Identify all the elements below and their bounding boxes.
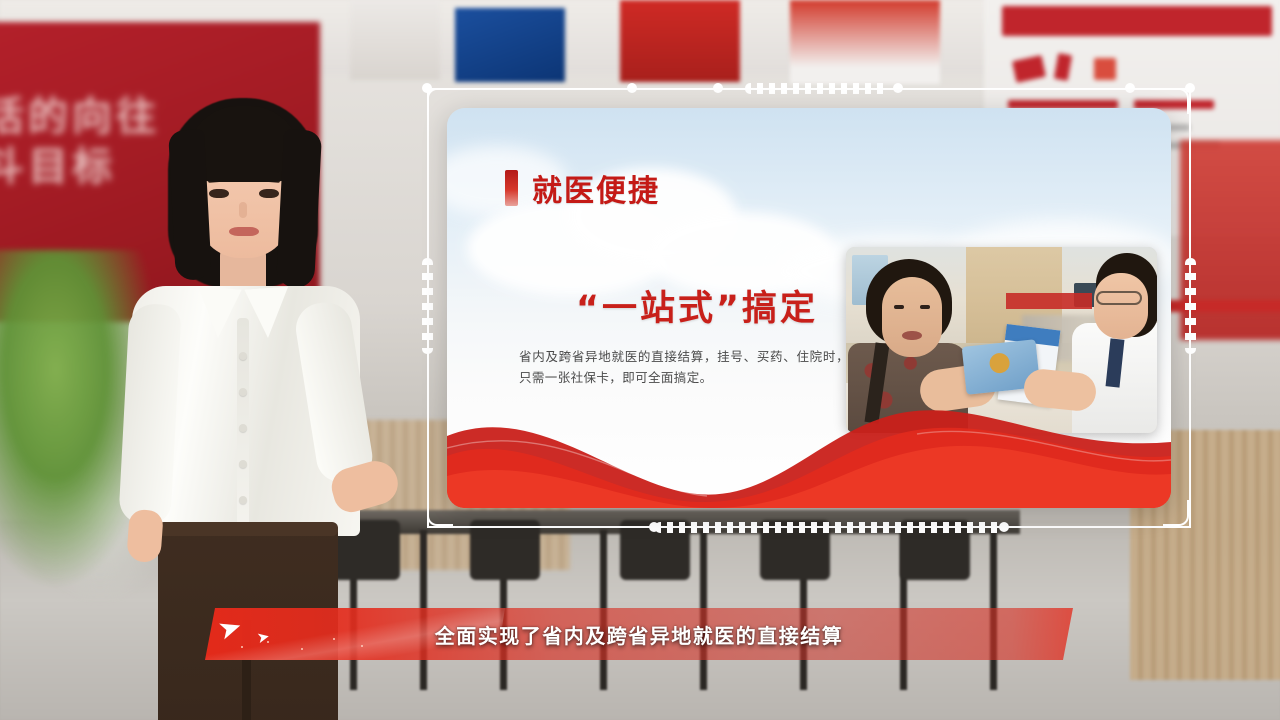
photo-staff-face: [1094, 273, 1148, 339]
background-poster-banner: [790, 0, 940, 84]
avatar-button-3: [239, 424, 247, 432]
photo-elder-eye-left: [894, 305, 904, 309]
avatar-eye-left: [209, 189, 229, 198]
avatar-button-1: [239, 352, 247, 360]
slide-wave-decoration: [447, 390, 1171, 508]
photo-card-emblem: [989, 352, 1011, 374]
frame-dashes-right: [1185, 258, 1196, 354]
frame-corner-top-left: [427, 88, 453, 114]
avatar-waistband: [158, 522, 338, 536]
board-shape-1: [1012, 55, 1046, 83]
slide-title: 就医便捷: [532, 166, 660, 210]
frame-dashes-top: [745, 83, 889, 94]
frame-corner-top-right: [1163, 88, 1189, 114]
avatar-hand-left: [126, 509, 164, 563]
background-chair-2: [470, 520, 540, 580]
avatar-button-5: [239, 496, 247, 504]
title-accent-bar: [505, 170, 518, 206]
frame-dot-b1: [649, 522, 659, 532]
slide-body-text: 省内及跨省异地就医的直接结算，挂号、买药、住院时，只需一张社保卡，即可全面搞定。: [519, 346, 849, 388]
photo-staff-glasses-icon: [1096, 291, 1142, 305]
board-shape-3: [1094, 58, 1116, 80]
frame-dot-t4: [1125, 83, 1135, 93]
slide-title-row: 就医便捷: [505, 166, 660, 210]
frame-dot-tl: [422, 83, 432, 93]
photo-elder-eye-right: [920, 305, 930, 309]
slide-headline: “一站式”搞定: [527, 280, 867, 331]
board-header-bar: [1002, 6, 1272, 36]
subtitle-text: 全面实现了省内及跨省异地就医的直接结算: [205, 608, 1073, 660]
photo-red-sign: [1006, 293, 1092, 309]
slide-frame: 就医便捷 “一站式”搞定 省内及跨省异地就医的直接结算，挂号、买药、住院时，只需…: [427, 88, 1191, 528]
avatar-mouth: [229, 227, 259, 236]
background-poster-red: [620, 0, 740, 82]
background-poster-blue: [455, 8, 565, 82]
board-shape-2: [1054, 53, 1072, 81]
avatar-nose: [239, 202, 247, 218]
frame-dashes-bottom: [655, 522, 1003, 533]
slide-card[interactable]: 就医便捷 “一站式”搞定 省内及跨省异地就医的直接结算，挂号、买药、住院时，只需…: [447, 108, 1171, 508]
frame-dot-t1: [627, 83, 637, 93]
frame-dot-t3: [893, 83, 903, 93]
subtitle-bar: ➤ ➤ 全面实现了省内及跨省异地就医的直接结算: [205, 608, 1073, 660]
frame-dashes-left: [422, 258, 433, 354]
avatar-hair-right: [276, 129, 322, 289]
frame-dot-t2: [713, 83, 723, 93]
background-banner-line-2: 斗目标: [0, 134, 116, 192]
photo-elder-face: [882, 277, 942, 357]
photo-elder-mouth: [902, 331, 922, 340]
avatar-eye-right: [259, 189, 279, 198]
frame-dot-b2: [999, 522, 1009, 532]
background-poster-left: [350, 0, 440, 80]
avatar-button-4: [239, 460, 247, 468]
avatar-button-2: [239, 388, 247, 396]
frame-dot-tr: [1185, 83, 1195, 93]
